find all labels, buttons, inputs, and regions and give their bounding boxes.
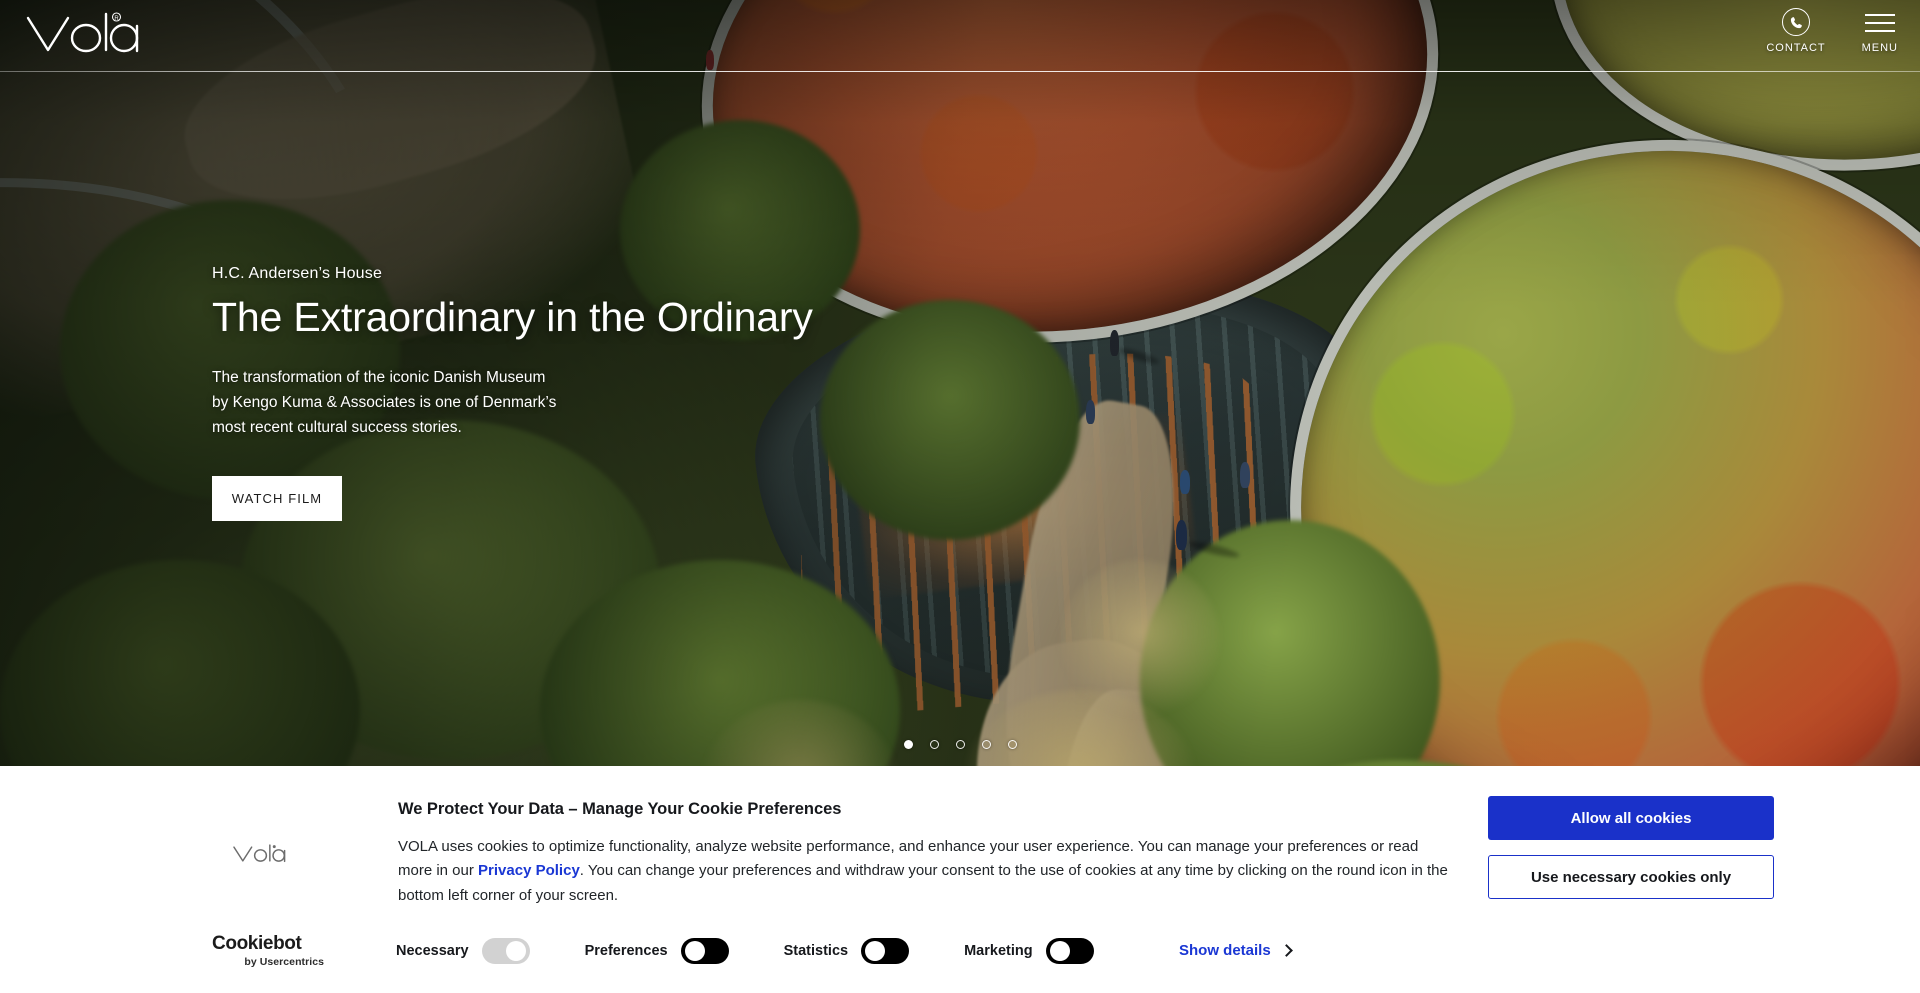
- chevron-right-icon: [1280, 944, 1293, 957]
- carousel-dot-2[interactable]: [930, 740, 939, 749]
- carousel-dot-4[interactable]: [982, 740, 991, 749]
- site-header: R CONTACT MENU: [0, 0, 1920, 90]
- menu-button[interactable]: MENU: [1862, 8, 1898, 54]
- cookiebot-name: Cookiebot: [212, 934, 324, 953]
- cookie-text-block: We Protect Your Data – Manage Your Cooki…: [398, 800, 1448, 908]
- hero-subcopy-line-2: by Kengo Kuma & Associates is one of Den…: [212, 390, 813, 415]
- watch-film-button[interactable]: WATCH FILM: [212, 476, 342, 521]
- show-details-button[interactable]: Show details: [1179, 942, 1291, 959]
- cookie-category-label: Statistics: [784, 943, 848, 959]
- preferences-toggle[interactable]: [681, 938, 729, 964]
- allow-all-cookies-button[interactable]: Allow all cookies: [1488, 796, 1774, 840]
- cookie-category-toggles: Necessary Preferences Statistics Marketi…: [396, 938, 1149, 964]
- cookie-banner-bottom: Cookiebot by Usercentrics Necessary Pref…: [0, 926, 1920, 993]
- hero-eyebrow: H.C. Andersen’s House: [212, 265, 813, 283]
- contact-label: CONTACT: [1766, 42, 1825, 54]
- phone-icon: [1782, 8, 1810, 36]
- header-actions: CONTACT MENU: [1766, 8, 1898, 54]
- hero-copy-block: H.C. Andersen’s House The Extraordinary …: [212, 265, 813, 521]
- hero-subcopy: The transformation of the iconic Danish …: [212, 365, 813, 440]
- page-root: H.C. Andersen’s House The Extraordinary …: [0, 0, 1920, 993]
- cookie-category-necessary: Necessary: [396, 938, 530, 964]
- marketing-toggle[interactable]: [1046, 938, 1094, 964]
- cookiebot-subtitle: by Usercentrics: [212, 956, 324, 968]
- carousel-dot-3[interactable]: [956, 740, 965, 749]
- show-details-label: Show details: [1179, 942, 1271, 959]
- carousel-dot-5[interactable]: [1008, 740, 1017, 749]
- cookie-consent-banner: We Protect Your Data – Manage Your Cooki…: [0, 766, 1920, 993]
- privacy-policy-link[interactable]: Privacy Policy: [478, 862, 580, 879]
- hero-headline: The Extraordinary in the Ordinary: [212, 295, 813, 341]
- hamburger-menu-icon: [1865, 10, 1895, 36]
- use-necessary-cookies-only-button[interactable]: Use necessary cookies only: [1488, 855, 1774, 899]
- hero-subcopy-line-3: most recent cultural success stories.: [212, 415, 813, 440]
- toggle-knob: [865, 941, 885, 961]
- cookie-banner-vola-logo: [232, 842, 290, 866]
- cookie-category-statistics: Statistics: [784, 938, 909, 964]
- cookie-banner-top: We Protect Your Data – Manage Your Cooki…: [0, 766, 1920, 926]
- contact-button[interactable]: CONTACT: [1766, 8, 1825, 54]
- cookie-category-label: Marketing: [964, 943, 1033, 959]
- cookie-category-preferences: Preferences: [585, 938, 729, 964]
- cookie-category-label: Necessary: [396, 943, 469, 959]
- hero-slide: H.C. Andersen’s House The Extraordinary …: [0, 0, 1920, 768]
- carousel-dot-1[interactable]: [904, 740, 913, 749]
- vola-logo[interactable]: R: [24, 8, 142, 60]
- toggle-knob: [506, 941, 526, 961]
- toggle-knob: [1050, 941, 1070, 961]
- hero-subcopy-line-1: The transformation of the iconic Danish …: [212, 365, 813, 390]
- necessary-toggle: [482, 938, 530, 964]
- svg-text:R: R: [114, 16, 119, 22]
- toggle-knob: [685, 941, 705, 961]
- statistics-toggle[interactable]: [861, 938, 909, 964]
- cookiebot-logo: Cookiebot by Usercentrics: [212, 934, 324, 968]
- cookie-category-marketing: Marketing: [964, 938, 1094, 964]
- cookie-banner-title: We Protect Your Data – Manage Your Cooki…: [398, 800, 1448, 819]
- carousel-dots: [0, 740, 1920, 749]
- menu-label: MENU: [1862, 42, 1898, 54]
- header-divider: [0, 71, 1920, 72]
- cookie-banner-actions: Allow all cookies Use necessary cookies …: [1488, 796, 1774, 899]
- cookie-category-label: Preferences: [585, 943, 668, 959]
- cookie-banner-body: VOLA uses cookies to optimize functional…: [398, 835, 1448, 908]
